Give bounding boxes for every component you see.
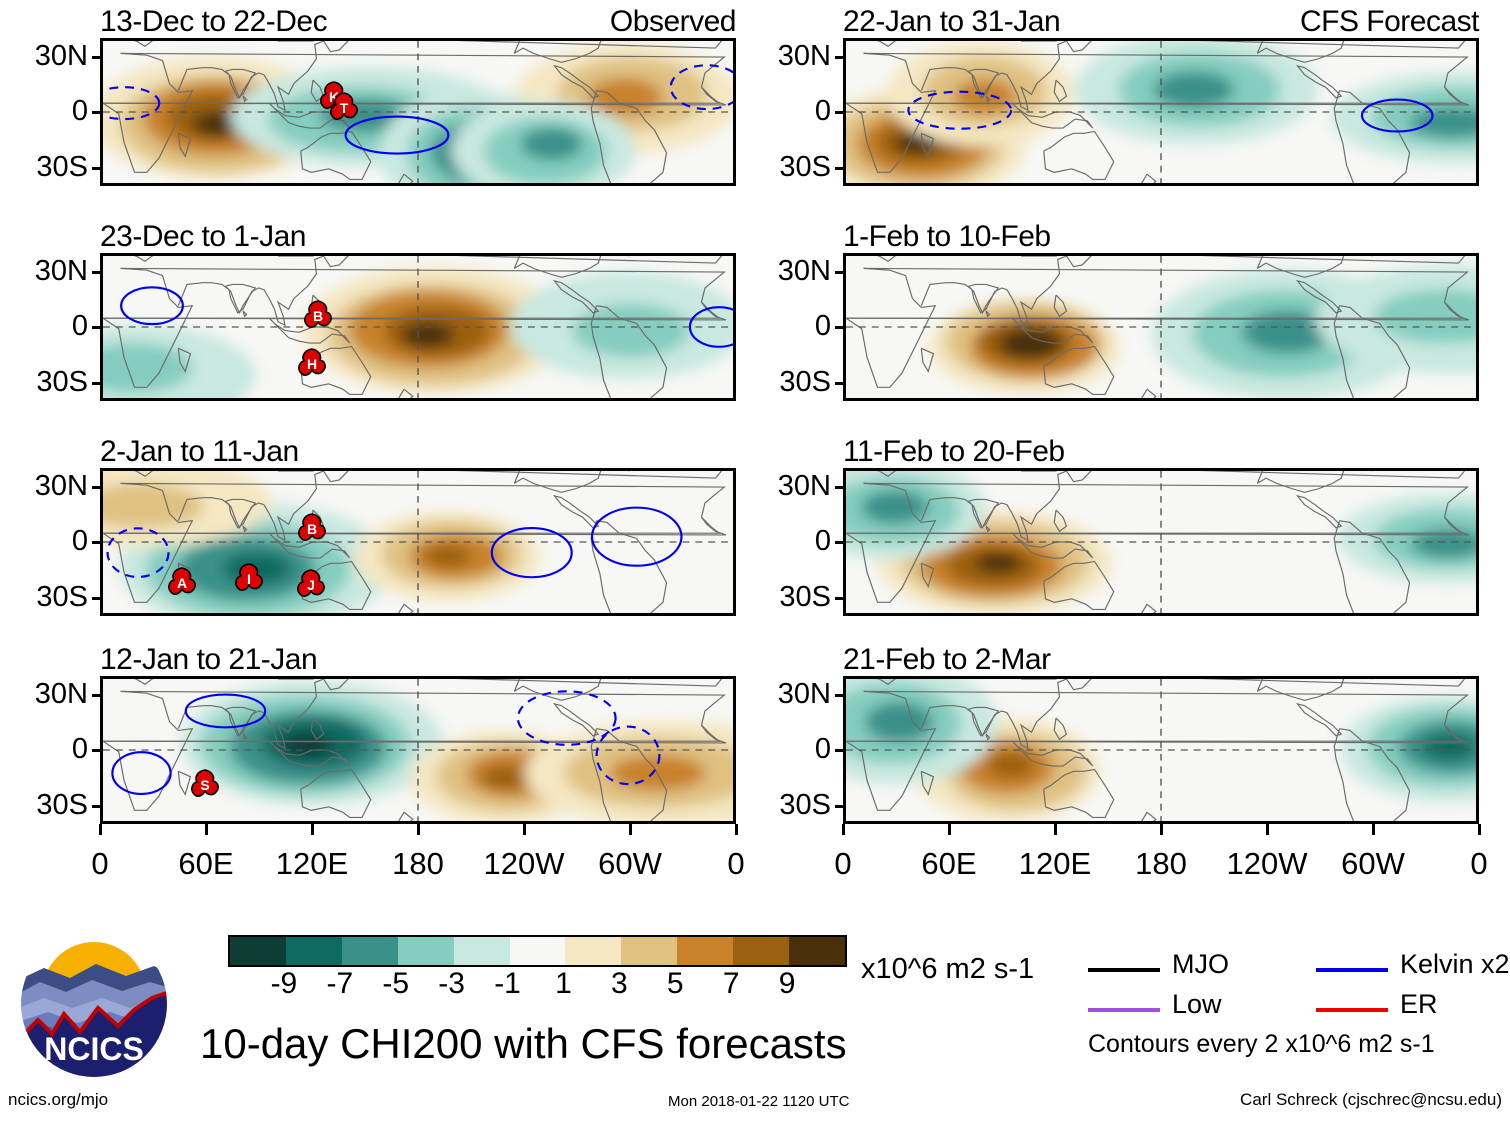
xtick-left-3: 180 <box>358 846 478 882</box>
svg-text:T: T <box>340 100 349 116</box>
ytick-p5-0: 30N <box>743 40 831 73</box>
ytick-p6-0: 30N <box>743 255 831 288</box>
ytick-p6-2: 30S <box>743 366 831 399</box>
map-p2: BH <box>100 253 736 401</box>
colorbar-swatch-8 <box>677 937 733 965</box>
map-p7 <box>843 468 1479 616</box>
colorbar-swatch-0 <box>230 937 286 965</box>
xtick-right-3: 180 <box>1101 846 1221 882</box>
ytick-p5-2: 30S <box>743 151 831 184</box>
contour-kelvin-x2 <box>108 528 169 577</box>
ytick-mark <box>835 56 844 59</box>
ytick-p4-1: 0 <box>0 733 88 766</box>
ytick-mark <box>92 56 101 59</box>
ytick-mark <box>835 271 844 274</box>
xtick-right-5: 60W <box>1313 846 1433 882</box>
colorbar-swatch-7 <box>621 937 677 965</box>
xtick-mark <box>948 824 951 835</box>
svg-text:A: A <box>177 575 187 591</box>
legend-label-er: ER <box>1400 989 1438 1020</box>
legend-line-er <box>1316 1008 1388 1012</box>
ytick-mark <box>835 597 844 600</box>
ytick-mark <box>92 382 101 385</box>
ytick-p7-2: 30S <box>743 581 831 614</box>
map-p4: S <box>100 676 736 824</box>
panel-title-p1: 13-Dec to 22-Dec <box>100 5 327 39</box>
ytick-mark <box>92 597 101 600</box>
svg-text:S: S <box>200 777 209 793</box>
panel-title-p5: 22-Jan to 31-Jan <box>843 5 1060 39</box>
legend-line-kelvin-x2 <box>1316 968 1388 972</box>
ytick-mark <box>835 541 844 544</box>
xtick-mark <box>1266 824 1269 835</box>
ytick-mark <box>92 326 101 329</box>
column-header-left: Observed <box>100 5 736 39</box>
ytick-p3-2: 30S <box>0 581 88 614</box>
ncics-logo: NCICS <box>18 928 170 1080</box>
panel-title-p3: 2-Jan to 11-Jan <box>100 435 299 469</box>
xtick-mark <box>842 824 845 835</box>
contour-kelvin-x2 <box>671 65 733 109</box>
colorbar-swatch-9 <box>733 937 789 965</box>
xtick-mark <box>1478 824 1481 835</box>
xtick-mark <box>1372 824 1375 835</box>
ytick-p3-0: 30N <box>0 470 88 503</box>
ytick-p4-0: 30N <box>0 678 88 711</box>
timestamp: Mon 2018-01-22 1120 UTC <box>668 1093 850 1110</box>
colorbar-swatch-10 <box>789 937 845 965</box>
contour-kelvin-x2 <box>592 508 681 566</box>
svg-text:K: K <box>329 89 339 105</box>
map-p8 <box>843 676 1479 824</box>
xtick-mark <box>99 824 102 835</box>
contour-kelvin-x2 <box>112 752 170 794</box>
legend-label-mjo: MJO <box>1172 949 1229 980</box>
xtick-right-6: 0 <box>1419 846 1510 882</box>
contour-kelvin-x2 <box>597 727 660 785</box>
map-p3: AIJB <box>100 468 736 616</box>
legend-label-low: Low <box>1172 989 1222 1020</box>
ytick-mark <box>835 805 844 808</box>
ytick-mark <box>835 382 844 385</box>
ytick-p2-1: 0 <box>0 310 88 343</box>
ytick-p2-0: 30N <box>0 255 88 288</box>
xtick-right-0: 0 <box>783 846 903 882</box>
xtick-right-2: 120E <box>995 846 1115 882</box>
xtick-left-1: 60E <box>146 846 266 882</box>
ytick-mark <box>92 486 101 489</box>
panel-title-p7: 11-Feb to 20-Feb <box>843 435 1065 469</box>
xtick-mark <box>311 824 314 835</box>
svg-text:I: I <box>247 571 251 587</box>
svg-text:B: B <box>313 308 323 324</box>
ytick-mark <box>92 694 101 697</box>
xtick-left-0: 0 <box>40 846 160 882</box>
xtick-right-1: 60E <box>889 846 1009 882</box>
svg-text:H: H <box>307 356 317 372</box>
ytick-mark <box>835 167 844 170</box>
contour-kelvin-x2 <box>908 92 1011 129</box>
contour-interval-note: Contours every 2 x10^6 m2 s-1 <box>1088 1030 1435 1059</box>
colorbar-swatch-5 <box>510 937 566 965</box>
svg-text:B: B <box>307 521 317 537</box>
panel-title-p2: 23-Dec to 1-Jan <box>100 220 306 254</box>
contour-kelvin-x2 <box>492 528 572 577</box>
panel-title-p4: 12-Jan to 21-Jan <box>100 643 317 677</box>
ytick-p2-2: 30S <box>0 366 88 399</box>
ytick-p3-1: 0 <box>0 525 88 558</box>
ytick-p7-1: 0 <box>743 525 831 558</box>
ytick-mark <box>835 694 844 697</box>
contour-kelvin-x2 <box>1362 100 1432 132</box>
colorbar-units-label: x10^6 m2 s-1 <box>861 953 1034 986</box>
contour-kelvin-x2 <box>346 117 449 154</box>
ytick-mark <box>92 111 101 114</box>
ytick-mark <box>92 749 101 752</box>
xtick-left-4: 120W <box>464 846 584 882</box>
panel-title-p8: 21-Feb to 2-Mar <box>843 643 1051 677</box>
contour-kelvin-x2 <box>690 307 733 347</box>
colorbar-tick-9: 9 <box>747 967 827 1001</box>
xtick-left-2: 120E <box>252 846 372 882</box>
panel-title-p6: 1-Feb to 10-Feb <box>843 220 1051 254</box>
colorbar-swatch-3 <box>398 937 454 965</box>
logo-text: NCICS <box>44 1031 144 1067</box>
ytick-p1-1: 0 <box>0 95 88 128</box>
contour-kelvin-x2 <box>186 695 265 728</box>
ytick-p8-2: 30S <box>743 789 831 822</box>
ytick-p6-1: 0 <box>743 310 831 343</box>
contour-kelvin-x2 <box>518 691 616 744</box>
xtick-right-4: 120W <box>1207 846 1327 882</box>
contour-kelvin-x2 <box>121 287 183 324</box>
xtick-mark <box>523 824 526 835</box>
ytick-p1-2: 30S <box>0 151 88 184</box>
column-header-right: CFS Forecast <box>843 5 1479 39</box>
xtick-mark <box>417 824 420 835</box>
site-url[interactable]: ncics.org/mjo <box>8 1090 108 1110</box>
ytick-p1-0: 30N <box>0 40 88 73</box>
colorbar <box>228 935 847 967</box>
xtick-left-6: 0 <box>676 846 796 882</box>
map-p5 <box>843 38 1479 186</box>
colorbar-swatch-4 <box>454 937 510 965</box>
ytick-mark <box>92 541 101 544</box>
ytick-mark <box>92 271 101 274</box>
ytick-mark <box>92 805 101 808</box>
ytick-mark <box>92 167 101 170</box>
xtick-mark <box>735 824 738 835</box>
xtick-mark <box>629 824 632 835</box>
ytick-p8-1: 0 <box>743 733 831 766</box>
ytick-mark <box>835 749 844 752</box>
ytick-mark <box>835 111 844 114</box>
xtick-mark <box>1054 824 1057 835</box>
xtick-mark <box>1160 824 1163 835</box>
svg-text:J: J <box>307 577 315 593</box>
ytick-mark <box>835 486 844 489</box>
ytick-p4-2: 30S <box>0 789 88 822</box>
colorbar-swatch-6 <box>565 937 621 965</box>
ytick-mark <box>835 326 844 329</box>
colorbar-swatch-2 <box>342 937 398 965</box>
author-credit: Carl Schreck (cjschrec@ncsu.edu) <box>1240 1090 1502 1110</box>
legend-line-mjo <box>1088 968 1160 972</box>
legend-label-kelvin-x2: Kelvin x2 <box>1400 949 1510 980</box>
xtick-mark <box>205 824 208 835</box>
map-p1: KT <box>100 38 736 186</box>
ytick-p8-0: 30N <box>743 678 831 711</box>
legend-line-low <box>1088 1008 1160 1012</box>
map-p6 <box>843 253 1479 401</box>
ytick-p7-0: 30N <box>743 470 831 503</box>
colorbar-swatch-1 <box>286 937 342 965</box>
xtick-left-5: 60W <box>570 846 690 882</box>
main-title: 10-day CHI200 with CFS forecasts <box>200 1020 847 1068</box>
ytick-p5-1: 0 <box>743 95 831 128</box>
contour-kelvin-x2 <box>103 87 159 119</box>
